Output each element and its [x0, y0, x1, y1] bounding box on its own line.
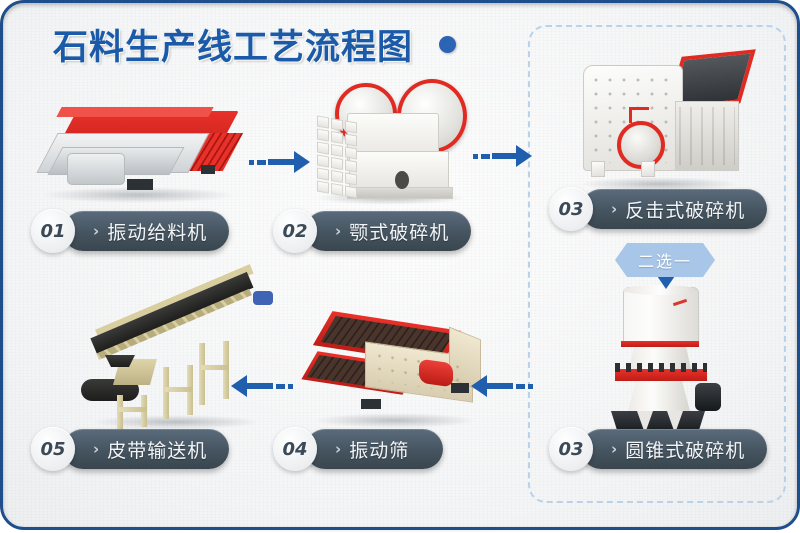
arrow-shaft — [487, 383, 513, 389]
arrow-dash — [276, 384, 285, 389]
step-number-05: 05 — [31, 427, 75, 471]
step-label-text-02: 颚式破碎机 — [349, 218, 449, 245]
arrow-head-icon — [294, 151, 310, 173]
step-pill-04[interactable]: › 振动筛 — [305, 429, 443, 469]
chevron-right-icon: › — [335, 222, 341, 240]
arrow-dash — [257, 160, 266, 165]
step-pill-05[interactable]: › 皮带输送机 — [63, 429, 229, 469]
page-title: 石料生产线工艺流程图 — [53, 19, 413, 70]
step-label-text-05: 皮带输送机 — [107, 436, 207, 463]
step-pill-03-cone[interactable]: › 圆锥式破碎机 — [581, 429, 767, 469]
chevron-right-icon: › — [93, 222, 99, 240]
bullet-dot-icon — [439, 36, 456, 53]
step-label-02[interactable]: 02 › 颚式破碎机 — [273, 209, 471, 253]
machine-vibrating-feeder — [31, 95, 246, 200]
step-number-03-cone: 03 — [549, 427, 593, 471]
arrow-head-icon — [516, 145, 532, 167]
step-label-03-cone[interactable]: 03 › 圆锥式破碎机 — [549, 427, 767, 471]
arrow-dot — [528, 384, 533, 389]
arrow-shaft — [268, 159, 294, 165]
choose-one-badge: 二选一 — [615, 243, 715, 277]
step-label-01[interactable]: 01 › 振动给料机 — [31, 209, 229, 253]
arrow-head-icon — [231, 375, 247, 397]
arrow-dash — [516, 384, 525, 389]
step-number-02: 02 — [273, 209, 317, 253]
chevron-right-icon: › — [611, 440, 617, 458]
step-label-text-03-impact: 反击式破碎机 — [625, 196, 745, 223]
arrow-feeder-to-jaw — [249, 151, 310, 173]
machine-belt-conveyor — [79, 303, 279, 433]
arrow-dot — [473, 154, 478, 159]
step-pill-03-impact[interactable]: › 反击式破碎机 — [581, 189, 767, 229]
arrow-screen-to-conveyor — [231, 375, 293, 397]
flowchart-page: 石料生产线工艺流程图 — [0, 0, 800, 530]
arrow-dot — [288, 384, 293, 389]
arrow-jaw-to-crusher — [473, 145, 532, 167]
machine-vibrating-screen — [299, 315, 489, 427]
arrow-head-icon — [471, 375, 487, 397]
chevron-right-icon: › — [335, 440, 341, 458]
step-number-04: 04 — [273, 427, 317, 471]
step-pill-02[interactable]: › 颚式破碎机 — [305, 211, 471, 251]
machine-cone-crusher — [589, 285, 739, 437]
step-label-04[interactable]: 04 › 振动筛 — [273, 427, 443, 471]
step-label-text-04: 振动筛 — [349, 436, 409, 463]
arrow-dot — [249, 160, 254, 165]
chevron-right-icon: › — [93, 440, 99, 458]
arrow-shaft — [492, 153, 516, 159]
step-pill-01[interactable]: › 振动给料机 — [63, 211, 229, 251]
step-number-01: 01 — [31, 209, 75, 253]
page-title-row: 石料生产线工艺流程图 — [53, 19, 456, 70]
step-number-03-impact: 03 — [549, 187, 593, 231]
step-label-text-01: 振动给料机 — [107, 218, 207, 245]
chevron-right-icon: › — [611, 200, 617, 218]
step-label-text-03-cone: 圆锥式破碎机 — [625, 436, 745, 463]
arrow-dash — [481, 154, 490, 159]
machine-impact-crusher — [571, 51, 751, 191]
arrow-crusher-to-screen — [471, 375, 533, 397]
machine-jaw-crusher — [309, 75, 474, 203]
arrow-shaft — [247, 383, 273, 389]
step-label-03-impact[interactable]: 03 › 反击式破碎机 — [549, 187, 767, 231]
step-label-05[interactable]: 05 › 皮带输送机 — [31, 427, 229, 471]
